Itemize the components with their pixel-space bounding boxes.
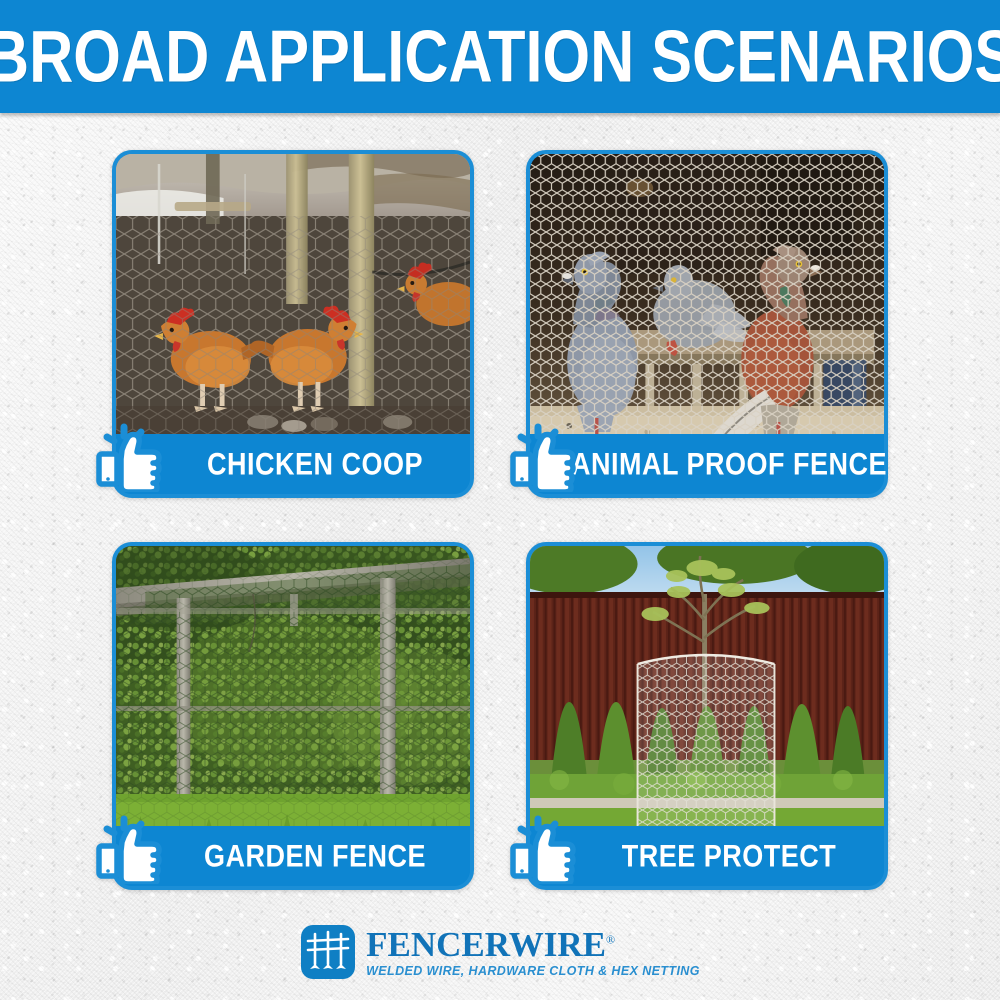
photo-animal-proof-fence (530, 154, 884, 442)
brand-name-second: WIRE (509, 925, 606, 964)
scenario-card-garden-fence[interactable]: GARDEN FENCE (112, 542, 474, 890)
card-label-text: TREE PROTECT (578, 840, 837, 872)
fence-posts-icon (300, 924, 356, 980)
thumbs-up-icon (94, 806, 172, 884)
photo-chicken-coop (116, 154, 470, 442)
registered-trademark-mark: ® (606, 932, 615, 946)
photo-garden-fence (116, 546, 470, 834)
thumbs-up-icon (508, 414, 586, 492)
scenario-card-tree-protect[interactable]: TREE PROTECT (526, 542, 888, 890)
logo-text-block: FENCERWIRE® WELDED WIRE, HARDWARE CLOTH … (366, 927, 700, 978)
brand-wordmark: FENCERWIRE® (366, 927, 615, 962)
page-title: BROAD APPLICATION SCENARIOS (0, 20, 1000, 93)
brand-tagline: WELDED WIRE, HARDWARE CLOTH & HEX NETTIN… (366, 965, 700, 978)
thumbs-up-icon (94, 414, 172, 492)
scenario-card-animal-proof-fence[interactable]: ANIMAL PROOF FENCE (526, 150, 888, 498)
photo-tree-protect (530, 546, 884, 834)
brand-footer: FENCERWIRE® WELDED WIRE, HARDWARE CLOTH … (0, 912, 1000, 992)
infographic-page: BROAD APPLICATION SCENARIOS (0, 0, 1000, 1000)
scenario-card-chicken-coop[interactable]: CHICKEN COOP (112, 150, 474, 498)
card-label-text: CHICKEN COOP (163, 448, 423, 480)
thumbs-up-icon (508, 806, 586, 884)
brand-name-first: FENCER (366, 925, 509, 964)
header-banner: BROAD APPLICATION SCENARIOS (0, 0, 1000, 113)
scenario-grid: CHICKEN COOP (112, 150, 888, 890)
card-label-text: GARDEN FENCE (160, 840, 426, 872)
